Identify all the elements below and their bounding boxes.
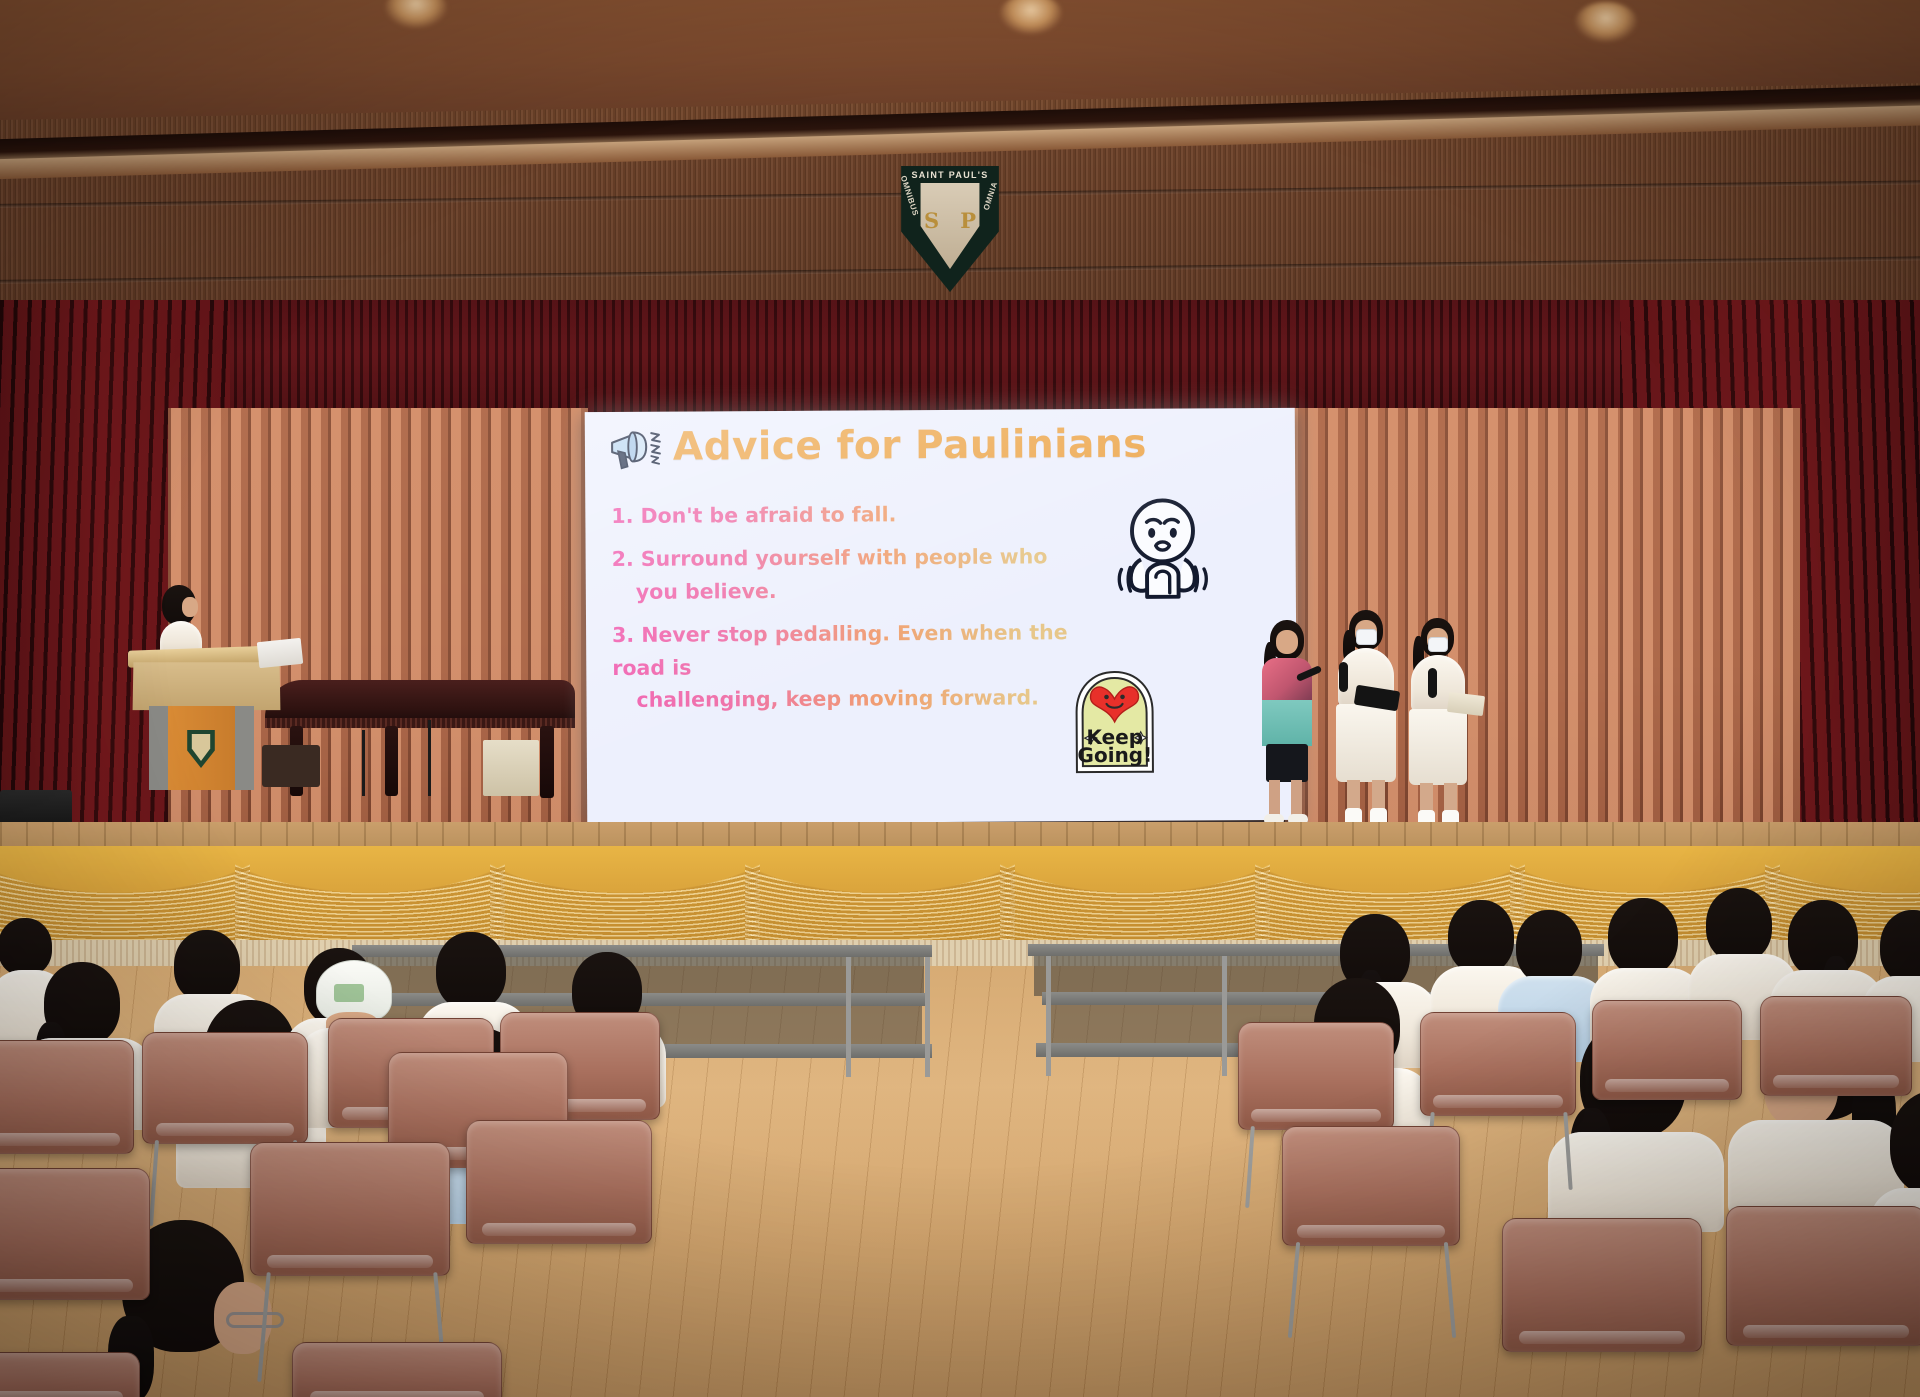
keep-going-sticker: Keep Going! <box>1068 664 1161 783</box>
chair <box>142 1032 308 1144</box>
audience-head <box>174 930 240 1002</box>
speaker-face <box>182 597 198 617</box>
chair <box>466 1120 652 1244</box>
slide-title-row: Advice for Paulinians <box>607 421 1147 470</box>
slide-bullet-item: 2. Surround yourself with people who you… <box>612 541 1082 609</box>
audience-head <box>1880 910 1920 984</box>
face-mask-icon <box>1428 637 1448 652</box>
chair <box>1502 1218 1702 1352</box>
chair <box>1238 1022 1394 1130</box>
bullet-continuation: you believe. <box>612 573 1082 608</box>
ceiling-light <box>1575 2 1637 42</box>
audience-head <box>1890 1090 1920 1196</box>
riser-leg <box>1046 956 1051 1076</box>
piano-leg <box>540 726 554 798</box>
piano-bench <box>262 745 320 787</box>
eyeglasses-icon <box>226 1312 284 1328</box>
bullet-number: 2. <box>612 547 634 571</box>
microphone-stand <box>362 730 365 796</box>
cap-logo <box>334 984 364 1002</box>
presenter-leg <box>1291 780 1302 818</box>
amplifier-box <box>483 740 539 796</box>
slide-bullet-list: 1. Don't be afraid to fall. 2. Surround … <box>611 497 1082 727</box>
riser-leg <box>1222 956 1227 1076</box>
presenter-leg <box>1269 780 1280 818</box>
audience-body <box>1548 1132 1724 1232</box>
chair <box>1420 1012 1576 1116</box>
podium-speaker <box>160 585 202 655</box>
crest-letter-s: S <box>924 210 939 231</box>
grand-piano-lid <box>265 680 575 722</box>
chair <box>0 1352 140 1397</box>
presenter-shorts <box>1266 744 1308 782</box>
chair <box>1726 1206 1920 1346</box>
audience-head <box>436 932 506 1010</box>
chair <box>1760 996 1912 1096</box>
riser-leg <box>846 957 851 1077</box>
slide-title: Advice for Paulinians <box>673 424 1147 466</box>
riser-leg <box>925 957 930 1077</box>
crest-letter-p: P <box>960 210 976 231</box>
stage-curtain-far-right <box>1620 408 1800 838</box>
audience-head <box>1788 900 1858 978</box>
presenter-top <box>1262 658 1312 704</box>
school-crest: SAINT PAUL'S OMNIBUS OMNIA S P <box>898 166 1002 292</box>
microphone-icon <box>1428 668 1437 698</box>
piano-leg <box>385 726 398 796</box>
face-mask-icon <box>1356 629 1377 645</box>
podium-body <box>133 662 281 710</box>
bullet-text: Surround yourself with people who <box>641 545 1048 571</box>
slide-bullet-item: 3. Never stop pedalling. Even when the r… <box>612 616 1083 716</box>
podium-papers <box>257 638 303 668</box>
chair <box>292 1342 502 1397</box>
presenter-script-paper <box>1447 692 1485 716</box>
bullet-text: Don't be afraid to fall. <box>641 502 897 528</box>
chair <box>1592 1000 1742 1100</box>
audience-head <box>1608 898 1678 976</box>
presenter-sports-uniform <box>1258 620 1314 828</box>
auditorium-photo: SAINT PAUL'S OMNIBUS OMNIA S P <box>0 0 1920 1397</box>
megaphone-icon <box>607 424 665 470</box>
projection-screen: Advice for Paulinians 1. Don't be afraid… <box>585 408 1298 824</box>
bullet-number: 1. <box>611 504 633 528</box>
sticker-line-2: Going! <box>1077 743 1152 767</box>
microphone-icon <box>1339 662 1348 692</box>
audience-head <box>1516 910 1582 984</box>
presenter-white-uniform-masked-2 <box>1408 618 1468 832</box>
bullet-number: 3. <box>612 623 634 647</box>
chair <box>1282 1126 1460 1246</box>
chair <box>0 1168 150 1300</box>
bullet-continuation: challenging, keep moving forward. <box>612 681 1082 716</box>
presenter-skirt <box>1409 709 1467 785</box>
chair <box>0 1040 134 1154</box>
crest-letters: S P <box>918 210 982 231</box>
presenter-face <box>1276 630 1298 654</box>
presenter-skirt <box>1336 704 1396 782</box>
bullet-text: Never stop pedalling. Even when the road… <box>612 620 1067 679</box>
slide-bullet-item: 1. Don't be afraid to fall. <box>611 497 1081 532</box>
worried-face-icon <box>1103 486 1222 605</box>
presenter-white-uniform-masked <box>1335 610 1397 832</box>
grand-piano-fringe <box>265 718 575 728</box>
presenter-shirt-lower <box>1262 700 1312 746</box>
audience-head <box>1706 888 1772 962</box>
crest-top-text: SAINT PAUL'S <box>898 171 1002 180</box>
chair <box>250 1142 450 1276</box>
microphone-stand <box>428 720 431 796</box>
